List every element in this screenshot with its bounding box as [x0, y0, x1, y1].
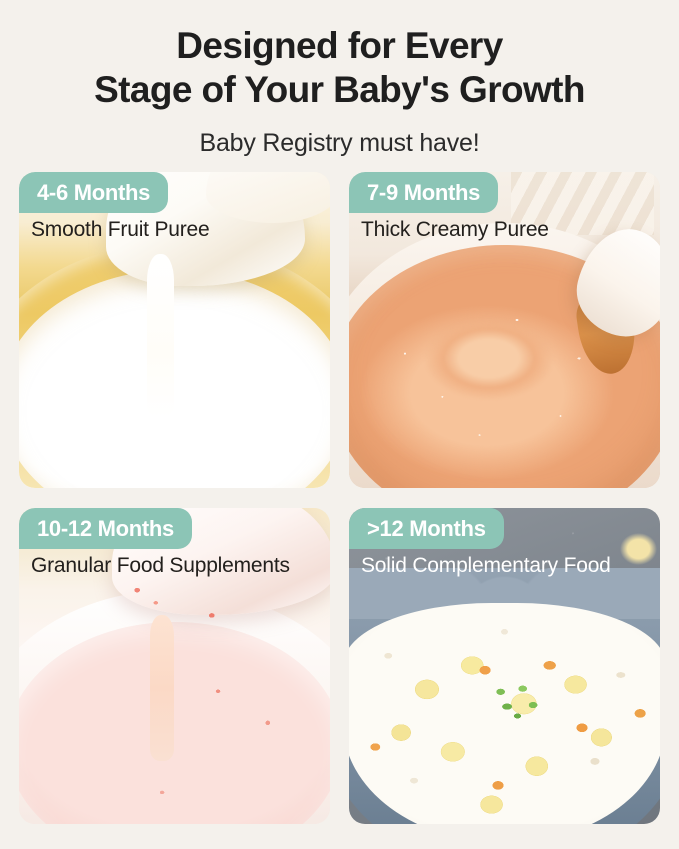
herb-garnish [485, 684, 550, 722]
stage-caption: Solid Complementary Food [361, 554, 611, 578]
stage-caption: Thick Creamy Puree [361, 218, 549, 242]
age-badge: >12 Months [349, 508, 504, 549]
page-title: Designed for Every Stage of Your Baby's … [0, 24, 679, 112]
background-food-bokeh [620, 533, 657, 565]
age-badge: 10-12 Months [19, 508, 192, 549]
page-title-line-1: Designed for Every [0, 24, 679, 68]
stage-caption: Smooth Fruit Puree [31, 218, 209, 242]
page-subtitle: Baby Registry must have! [0, 128, 679, 158]
puree-drip-stream [147, 254, 175, 418]
food-surface [349, 603, 660, 824]
age-badge: 7-9 Months [349, 172, 498, 213]
page-title-line-2: Stage of Your Baby's Growth [0, 68, 679, 112]
age-badge: 4-6 Months [19, 172, 168, 213]
stage-card-grid: 4-6 Months Smooth Fruit Puree 7-9 Months… [19, 172, 660, 824]
stage-card-over-12-months[interactable]: >12 Months Solid Complementary Food [349, 508, 660, 824]
stage-card-7-9-months[interactable]: 7-9 Months Thick Creamy Puree [349, 172, 660, 488]
stage-card-4-6-months[interactable]: 4-6 Months Smooth Fruit Puree [19, 172, 330, 488]
stage-card-10-12-months[interactable]: 10-12 Months Granular Food Supplements [19, 508, 330, 824]
page-header: Designed for Every Stage of Your Baby's … [0, 0, 679, 158]
stage-caption: Granular Food Supplements [31, 554, 290, 578]
